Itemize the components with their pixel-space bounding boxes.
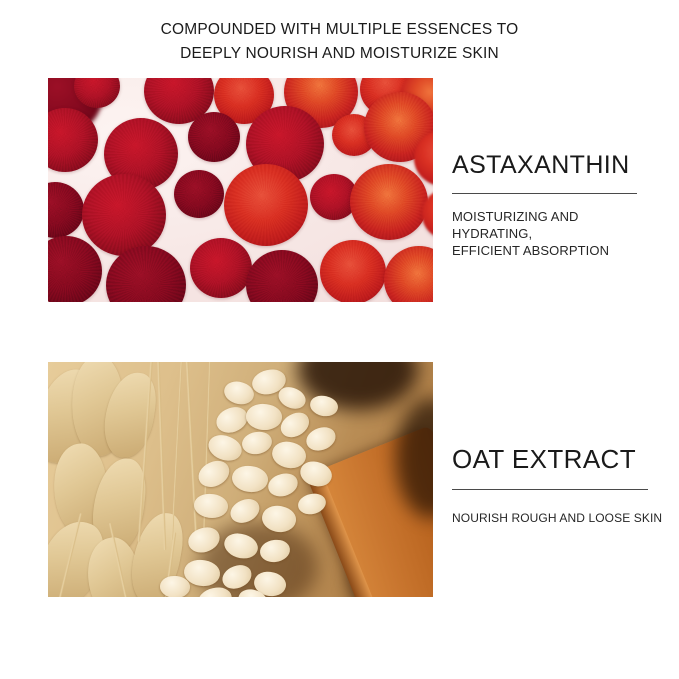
bead: [188, 112, 240, 162]
ingredient-block-oat: OAT EXTRACT NOURISH ROUGH AND LOOSE SKIN: [452, 444, 648, 527]
description-line-2: EFFICIENT ABSORPTION: [452, 242, 638, 259]
bead: [174, 170, 224, 218]
ingredient-block-astaxanthin: ASTAXANTHIN MOISTURIZING AND HYDRATING, …: [452, 150, 638, 259]
ingredient-heading: OAT EXTRACT: [452, 444, 648, 474]
heading-divider: [452, 193, 637, 194]
bead: [320, 240, 386, 302]
bead: [350, 164, 428, 240]
oat-photo: [48, 362, 433, 597]
bead: [82, 174, 166, 256]
header-tagline: COMPOUNDED WITH MULTIPLE ESSENCES TO DEE…: [0, 18, 679, 66]
bead: [190, 238, 252, 298]
heading-divider: [452, 489, 648, 490]
astaxanthin-photo: [48, 78, 433, 302]
header-line-2: DEEPLY NOURISH AND MOISTURIZE SKIN: [0, 42, 679, 66]
header-line-1: COMPOUNDED WITH MULTIPLE ESSENCES TO: [0, 18, 679, 42]
bead: [224, 164, 308, 246]
ingredient-heading: ASTAXANTHIN: [452, 150, 638, 180]
description-line-1: MOISTURIZING AND HYDRATING,: [452, 208, 638, 242]
ingredient-description: NOURISH ROUGH AND LOOSE SKIN: [452, 510, 648, 527]
ingredient-description: MOISTURIZING AND HYDRATING, EFFICIENT AB…: [452, 208, 638, 259]
